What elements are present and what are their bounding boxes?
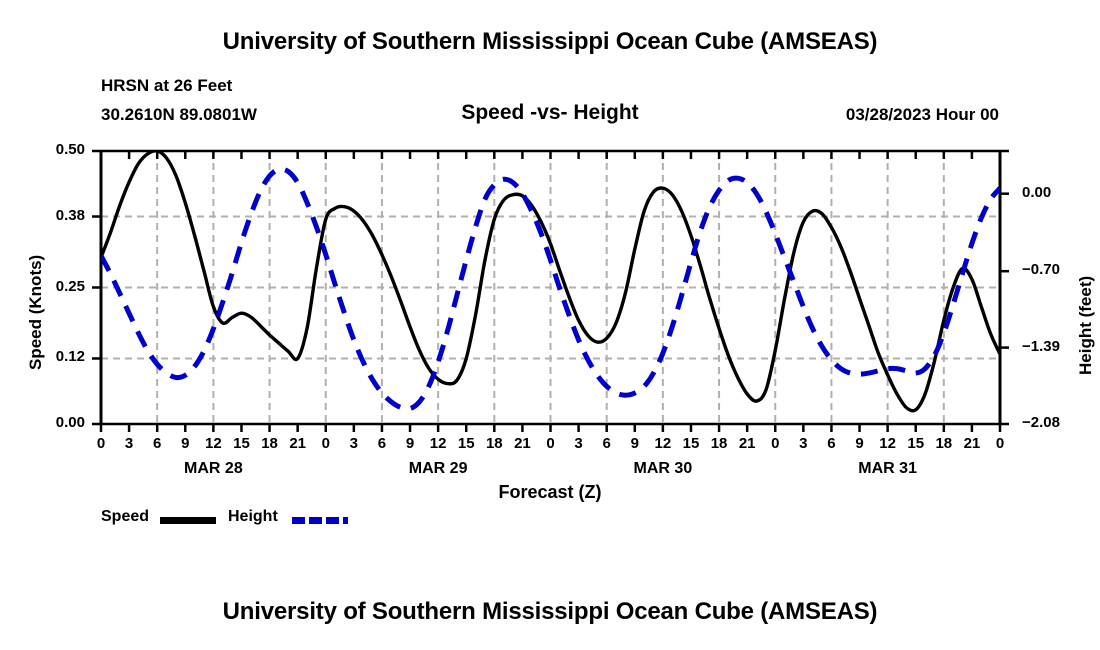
legend-speed-label: Speed xyxy=(101,508,149,526)
page-title-bottom: University of Southern Mississippi Ocean… xyxy=(0,598,1100,626)
page-title-bottom-text: University of Southern Mississippi Ocean… xyxy=(223,598,878,625)
legend-height-label: Height xyxy=(228,508,278,526)
chart-plot-area xyxy=(0,0,1100,650)
legend-height-text: Height xyxy=(228,508,278,525)
legend-height-swatch xyxy=(292,517,348,524)
legend-speed-text: Speed xyxy=(101,508,149,525)
legend-speed-swatch xyxy=(160,517,216,524)
